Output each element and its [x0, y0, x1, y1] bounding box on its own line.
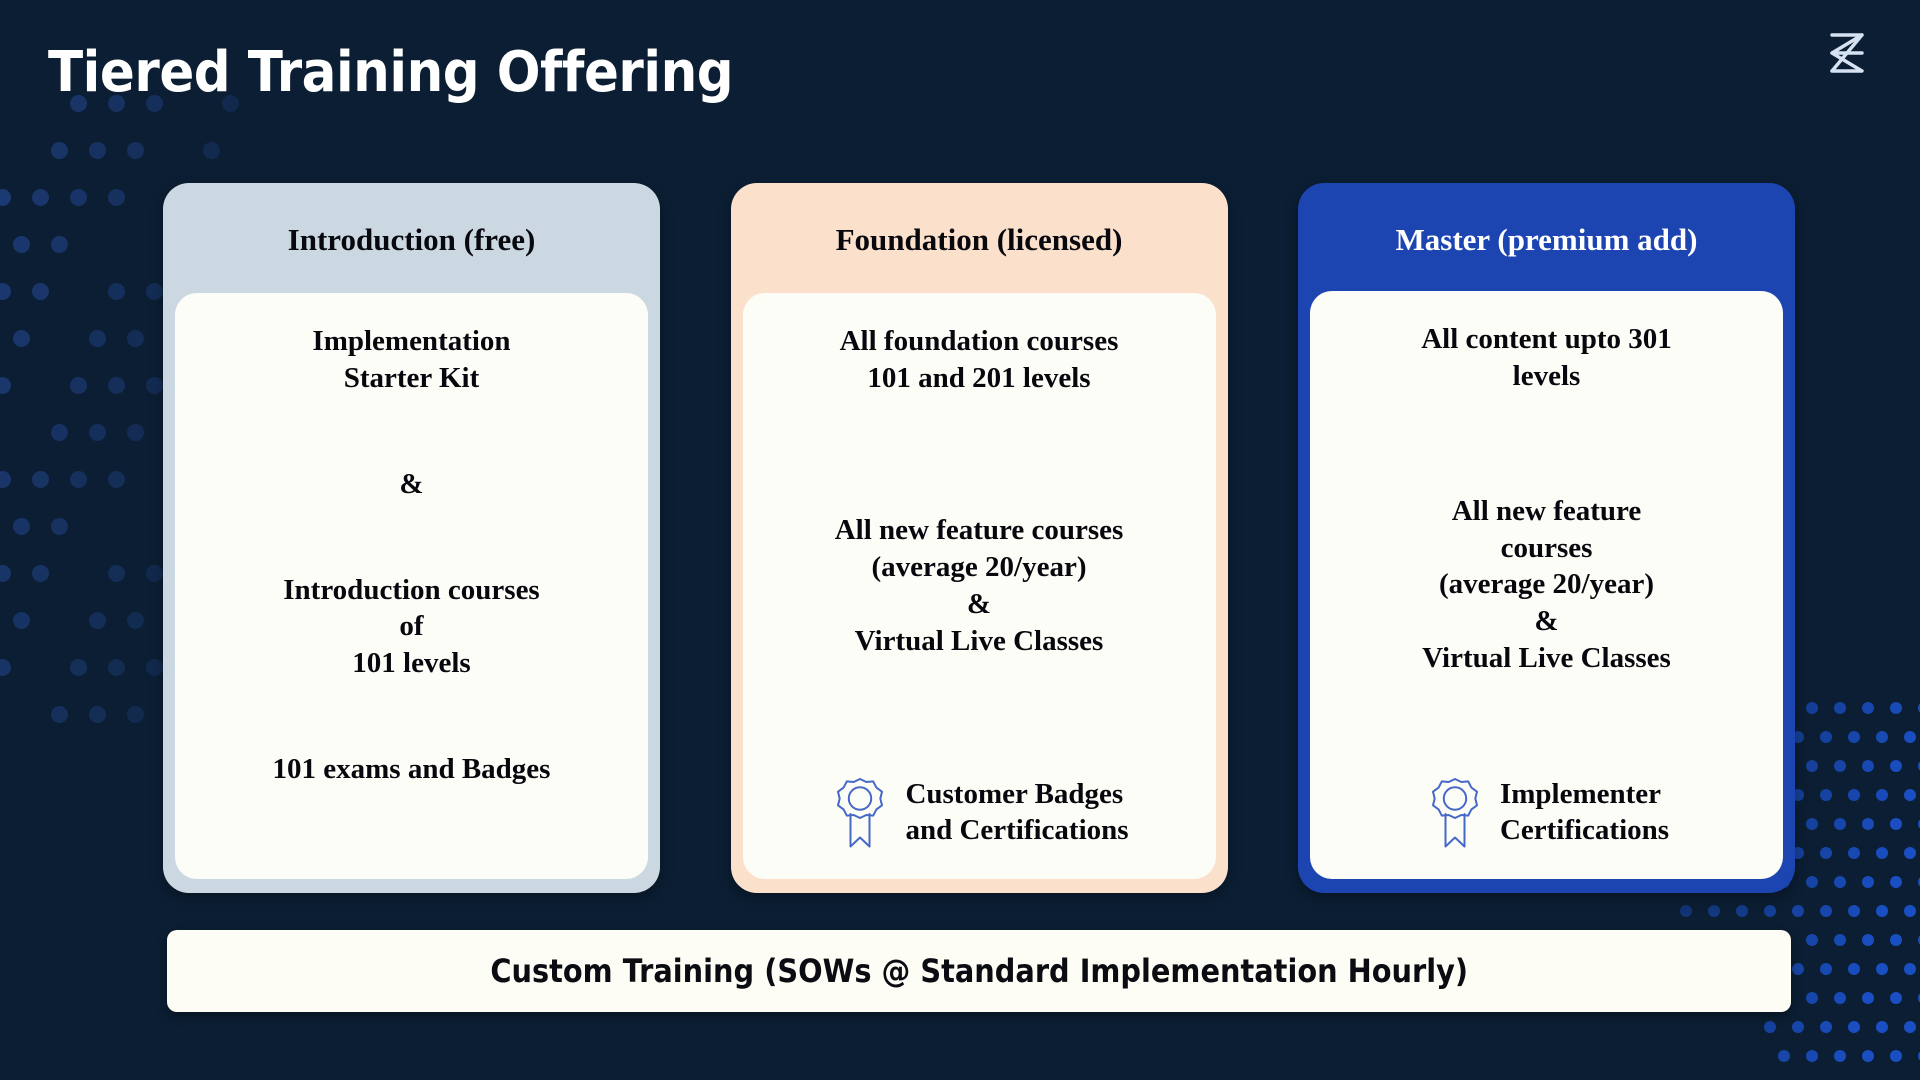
decorative-dot: [1848, 847, 1860, 859]
custom-training-banner[interactable]: Custom Training (SOWs @ Standard Impleme…: [167, 930, 1791, 1012]
decorative-dot: [1764, 905, 1776, 917]
decorative-dot: [1904, 1021, 1916, 1033]
decorative-dot: [108, 471, 125, 488]
decorative-dot: [127, 330, 144, 347]
tier-feature-block: Introduction courses of 101 levels: [191, 572, 632, 682]
decorative-dot: [1904, 905, 1916, 917]
decorative-dot: [51, 142, 68, 159]
decorative-dot: [1876, 1021, 1888, 1033]
decorative-dot: [89, 612, 106, 629]
decorative-dot: [108, 659, 125, 676]
decorative-dot: [1806, 876, 1818, 888]
decorative-dot: [70, 471, 87, 488]
decorative-dot: [13, 518, 30, 535]
decorative-dot: [1806, 702, 1818, 714]
decorative-dot: [1834, 818, 1846, 830]
tier-feature-block: All foundation courses 101 and 201 level…: [759, 323, 1200, 397]
decorative-dot: [1834, 1050, 1846, 1062]
decorative-dot: [1848, 1021, 1860, 1033]
decorative-dot: [1876, 789, 1888, 801]
decorative-dot: [1792, 905, 1804, 917]
decorative-dot: [1806, 1050, 1818, 1062]
tier-feature-block: All content upto 301 levels: [1326, 321, 1767, 395]
decorative-dot: [32, 283, 49, 300]
tier-feature-block: All new feature courses (average 20/year…: [759, 512, 1200, 659]
decorative-dot: [1834, 934, 1846, 946]
decorative-dot: [70, 659, 87, 676]
decorative-dot: [1848, 905, 1860, 917]
decorative-dot: [0, 283, 11, 300]
tier-card-row: Introduction (free) Implementation Start…: [163, 183, 1795, 893]
tier-card-title: Foundation (licensed): [731, 183, 1228, 257]
decorative-dot: [1820, 905, 1832, 917]
tier-card-title: Master (premium add): [1298, 183, 1795, 257]
decorative-dot: [146, 377, 163, 394]
decorative-dot: [32, 189, 49, 206]
decorative-dot: [1820, 1021, 1832, 1033]
decorative-dot: [108, 189, 125, 206]
tier-card-master[interactable]: Master (premium add) All content upto 30…: [1298, 183, 1795, 893]
tier-badge-label: Customer Badges and Certifications: [905, 777, 1128, 848]
decorative-dot: [127, 424, 144, 441]
decorative-dot: [146, 565, 163, 582]
decorative-dot: [0, 377, 11, 394]
custom-training-label: Custom Training (SOWs @ Standard Impleme…: [490, 952, 1468, 990]
decorative-dot: [1848, 789, 1860, 801]
tier-feature-block: 101 exams and Badges: [191, 751, 632, 788]
decorative-dot: [51, 518, 68, 535]
decorative-dot: [1890, 934, 1902, 946]
decorative-dot: [1876, 905, 1888, 917]
decorative-dot: [13, 330, 30, 347]
decorative-dot: [1820, 963, 1832, 975]
decorative-dot: [1736, 905, 1748, 917]
decorative-dot: [1806, 818, 1818, 830]
decorative-dot: [1890, 760, 1902, 772]
decorative-dot: [1806, 992, 1818, 1004]
tier-card-introduction[interactable]: Introduction (free) Implementation Start…: [163, 183, 660, 893]
decorative-dot: [1792, 1021, 1804, 1033]
decorative-dot: [1820, 789, 1832, 801]
decorative-dot: [13, 236, 30, 253]
tier-card-body: Implementation Starter Kit & Introductio…: [175, 293, 648, 879]
decorative-dot: [51, 424, 68, 441]
decorative-dot: [1848, 963, 1860, 975]
decorative-dot: [0, 565, 11, 582]
decorative-dot: [70, 189, 87, 206]
decorative-dot: [1890, 702, 1902, 714]
brand-logo-z-mark: [1816, 22, 1878, 84]
decorative-dot: [1904, 847, 1916, 859]
decorative-dot: [89, 706, 106, 723]
decorative-dot: [1862, 992, 1874, 1004]
decorative-dot: [108, 283, 125, 300]
tier-badge-label: Implementer Certifications: [1500, 777, 1669, 848]
decorative-dot: [1806, 760, 1818, 772]
tier-feature-block: &: [191, 466, 632, 503]
decorative-dot: [1820, 731, 1832, 743]
decorative-dot: [1862, 1050, 1874, 1062]
decorative-dot: [51, 236, 68, 253]
decorative-dot: [1862, 818, 1874, 830]
decorative-dot: [1764, 1021, 1776, 1033]
decorative-dot: [0, 659, 11, 676]
decorative-dot: [1862, 702, 1874, 714]
decorative-dot: [1876, 731, 1888, 743]
decorative-dot: [89, 330, 106, 347]
decorative-dot: [70, 377, 87, 394]
decorative-dot: [32, 471, 49, 488]
decorative-dot: [0, 471, 11, 488]
decorative-dot: [1904, 731, 1916, 743]
decorative-dot: [32, 565, 49, 582]
decorative-dot: [1806, 934, 1818, 946]
decorative-dot: [51, 706, 68, 723]
decorative-dot: [1904, 963, 1916, 975]
tier-badge-row: Implementer Certifications: [1326, 775, 1767, 857]
decorative-dot: [1778, 1050, 1790, 1062]
decorative-dot: [127, 142, 144, 159]
tier-badge-row: Customer Badges and Certifications: [759, 775, 1200, 857]
decorative-dot: [203, 142, 220, 159]
decorative-dot: [146, 659, 163, 676]
decorative-dot: [146, 283, 163, 300]
page-title: Tiered Training Offering: [48, 40, 733, 105]
decorative-dot: [108, 377, 125, 394]
award-badge-ribbon-icon: [1424, 775, 1486, 851]
decorative-dot: [127, 612, 144, 629]
decorative-dot: [1890, 992, 1902, 1004]
tier-card-body: All foundation courses 101 and 201 level…: [743, 293, 1216, 879]
decorative-dot: [1890, 818, 1902, 830]
tier-card-foundation[interactable]: Foundation (licensed) All foundation cou…: [731, 183, 1228, 893]
decorative-dot: [89, 142, 106, 159]
award-badge-ribbon-icon: [829, 775, 891, 851]
tier-card-title: Introduction (free): [163, 183, 660, 257]
decorative-dot: [1680, 905, 1692, 917]
decorative-dot: [108, 565, 125, 582]
decorative-dot: [1792, 963, 1804, 975]
decorative-dot: [1834, 876, 1846, 888]
decorative-dot: [1890, 876, 1902, 888]
decorative-dot: [0, 189, 11, 206]
decorative-dot: [1834, 992, 1846, 1004]
decorative-dot: [1834, 702, 1846, 714]
decorative-dot: [1820, 847, 1832, 859]
decorative-dot: [1848, 731, 1860, 743]
tier-feature-block: Implementation Starter Kit: [191, 323, 632, 397]
decorative-dot: [13, 612, 30, 629]
decorative-dot: [1862, 876, 1874, 888]
decorative-dot: [89, 424, 106, 441]
decorative-dot: [1834, 760, 1846, 772]
decorative-dot: [1876, 847, 1888, 859]
tier-feature-block: All new feature courses (average 20/year…: [1326, 493, 1767, 677]
decorative-dot: [127, 706, 144, 723]
decorative-dot: [1890, 1050, 1902, 1062]
decorative-dot: [1862, 760, 1874, 772]
decorative-dot: [1708, 905, 1720, 917]
tier-card-body: All content upto 301 levels All new feat…: [1310, 291, 1783, 879]
decorative-dot: [1904, 789, 1916, 801]
decorative-dot: [1862, 934, 1874, 946]
decorative-dot: [1876, 963, 1888, 975]
